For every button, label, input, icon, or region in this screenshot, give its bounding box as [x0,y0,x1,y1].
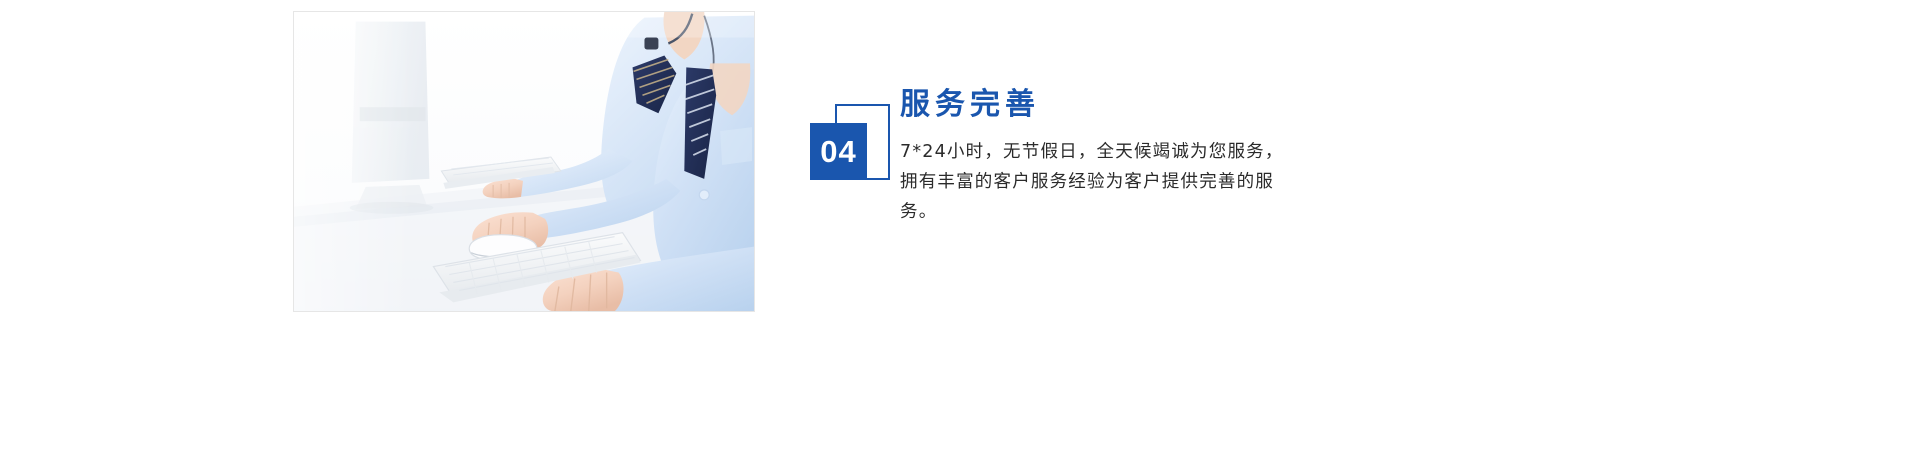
step-number-badge: 04 [810,104,890,184]
promo-section: 04 服务完善 7*24小时，无节假日，全天候竭诚为您服务，拥有丰富的客户服务经… [0,0,1920,452]
section-content: 04 服务完善 7*24小时，无节假日，全天候竭诚为您服务，拥有丰富的客户服务经… [810,88,1510,268]
text-column: 服务完善 7*24小时，无节假日，全天候竭诚为您服务，拥有丰富的客户服务经验为客… [900,88,1510,227]
section-description: 7*24小时，无节假日，全天候竭诚为您服务，拥有丰富的客户服务经验为客户提供完善… [900,137,1295,227]
badge-filled-square: 04 [810,123,867,180]
customer-service-photo-panel [293,11,755,312]
customer-service-agents-photo [294,12,754,311]
section-heading: 服务完善 [900,88,1510,123]
badge-number: 04 [820,136,856,167]
